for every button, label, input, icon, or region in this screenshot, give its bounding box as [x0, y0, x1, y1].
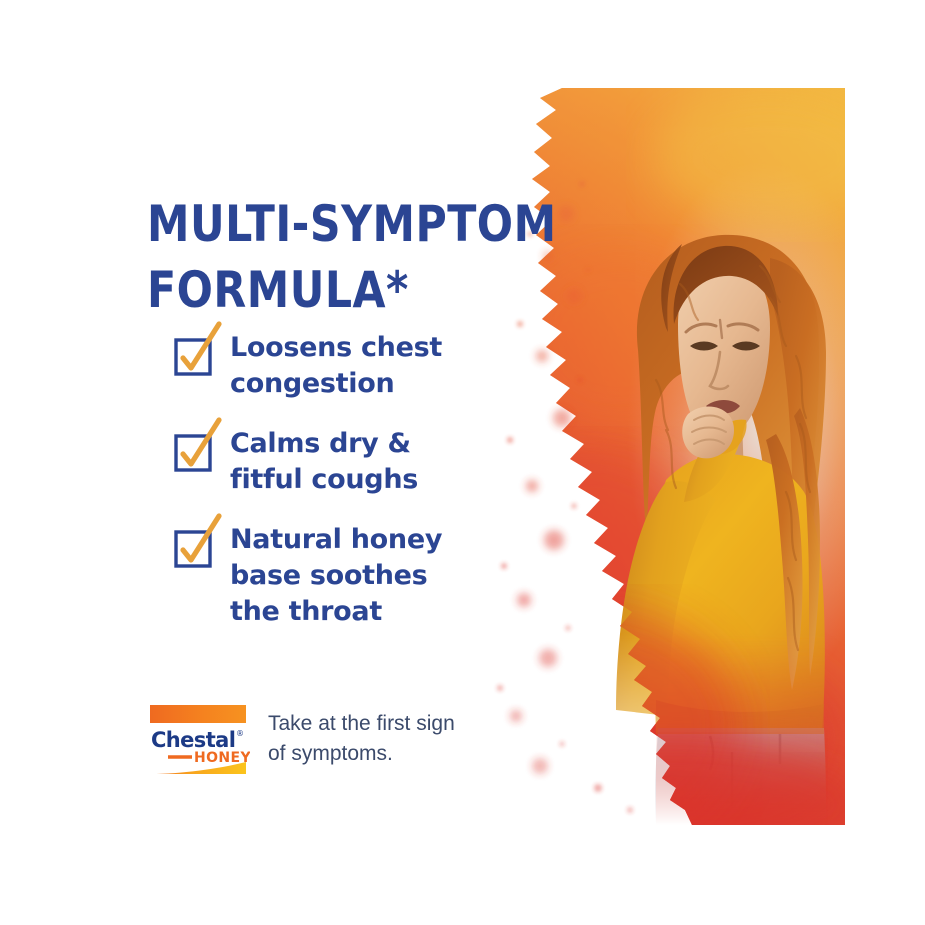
benefit-line-3: the throat: [230, 594, 442, 630]
footer: Chestal ® HONEY Take at the first sign o…: [146, 700, 455, 776]
benefit-text: Calms dry & fitful coughs: [230, 426, 418, 498]
checkbox-svg: [170, 320, 228, 378]
chestal-honey-logo: Chestal ® HONEY: [146, 700, 250, 776]
benefit-item-loosens-chest-congestion: Loosens chest congestion: [174, 330, 484, 402]
benefit-item-natural-honey-base: Natural honey base soothes the throat: [174, 522, 484, 630]
benefit-line-2: fitful coughs: [230, 462, 418, 498]
tagline-line-2: of symptoms.: [268, 739, 455, 769]
logo-brand-text: Chestal: [151, 728, 235, 752]
benefit-line-2: congestion: [230, 366, 442, 402]
headline-line-1: MULTI-SYMPTOM: [147, 192, 496, 258]
tagline-line-1: Take at the first sign: [268, 709, 455, 739]
logo-top-bar: [150, 705, 246, 723]
tagline: Take at the first sign of symptoms.: [268, 709, 455, 769]
checked-checkbox-icon: [174, 434, 212, 472]
benefit-line-1: Calms dry &: [230, 426, 418, 462]
benefit-line-2: base soothes: [230, 558, 442, 594]
benefit-line-1: Natural honey: [230, 522, 442, 558]
benefit-list: Loosens chest congestion Calms dry & fit…: [174, 330, 484, 630]
logo-svg: Chestal ® HONEY: [146, 700, 250, 776]
benefit-text: Natural honey base soothes the throat: [230, 522, 442, 630]
logo-registered-mark: ®: [236, 729, 244, 738]
headline-line-2: FORMULA*: [147, 259, 496, 325]
page-title: MULTI-SYMPTOM FORMULA*: [147, 192, 496, 324]
benefit-text: Loosens chest congestion: [230, 330, 442, 402]
benefit-line-1: Loosens chest: [230, 330, 442, 366]
checked-checkbox-icon: [174, 530, 212, 568]
benefit-item-calms-dry-fitful-coughs: Calms dry & fitful coughs: [174, 426, 484, 498]
checkbox-svg: [170, 512, 228, 570]
checked-checkbox-icon: [174, 338, 212, 376]
checkbox-svg: [170, 416, 228, 474]
advertisement-banner: MULTI-SYMPTOM FORMULA* Loosens chest con…: [0, 0, 925, 925]
